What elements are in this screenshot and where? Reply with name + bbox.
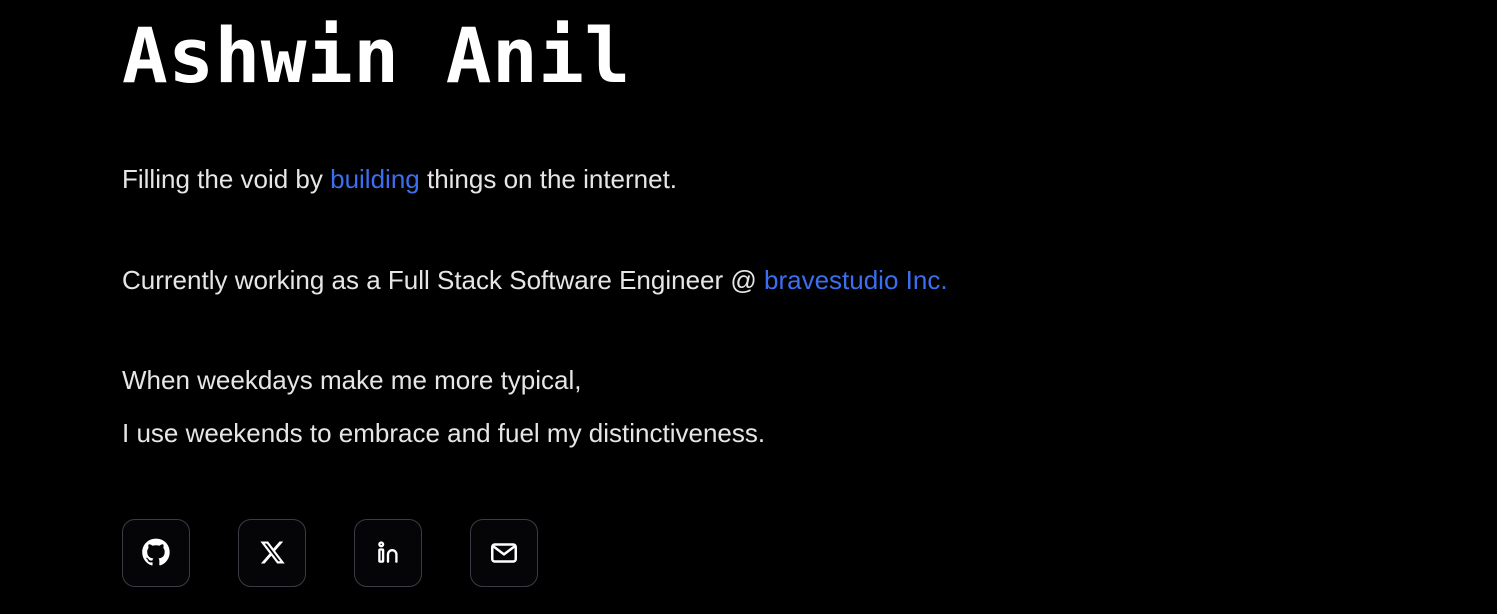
social-link-x[interactable] xyxy=(238,519,306,587)
github-icon xyxy=(141,538,171,568)
bio-line-2: Currently working as a Full Stack Softwa… xyxy=(122,265,1497,296)
bio-line-1: Filling the void by building things on t… xyxy=(122,164,1497,195)
bravestudio-link[interactable]: bravestudio Inc. xyxy=(764,265,948,295)
x-icon xyxy=(259,539,286,566)
bio-spacer-2 xyxy=(122,295,1497,365)
bio-section: Filling the void by building things on t… xyxy=(122,164,1497,449)
bio-spacer-1 xyxy=(122,195,1497,265)
page-root: Ashwin Anil Filling the void by building… xyxy=(0,0,1497,614)
bio-line-2-text-before: Currently working as a Full Stack Softwa… xyxy=(122,265,764,295)
building-link[interactable]: building xyxy=(330,164,420,194)
linkedin-icon xyxy=(374,539,402,567)
social-link-linkedin[interactable] xyxy=(354,519,422,587)
bio-line-1-text-before: Filling the void by xyxy=(122,164,330,194)
social-links xyxy=(122,519,1497,587)
social-link-github[interactable] xyxy=(122,519,190,587)
bio-line-1-text-after: things on the internet. xyxy=(420,164,677,194)
bio-line-4: I use weekends to embrace and fuel my di… xyxy=(122,418,1497,449)
social-link-email[interactable] xyxy=(470,519,538,587)
bio-line-3: When weekdays make me more typical, xyxy=(122,365,1497,396)
mail-icon xyxy=(489,538,519,568)
page-title: Ashwin Anil xyxy=(122,0,1497,94)
